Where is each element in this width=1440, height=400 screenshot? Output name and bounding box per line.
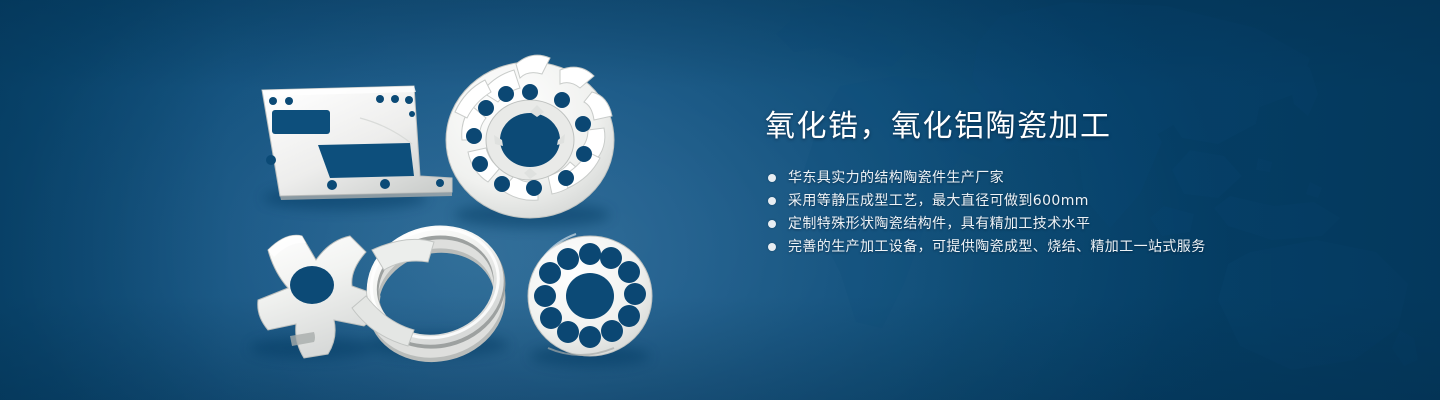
list-item: 采用等静压成型工艺，最大直径可做到600mm	[765, 190, 1385, 212]
bullet-dot-icon	[768, 174, 776, 182]
bullet-dot-icon	[768, 220, 776, 228]
ceramic-impeller-disc	[446, 55, 614, 218]
banner-copy: 氧化锆，氧化铝陶瓷加工 华东具实力的结构陶瓷件生产厂家 采用等静压成型工艺，最大…	[765, 108, 1385, 259]
feature-text: 完善的生产加工设备，可提供陶瓷成型、烧结、精加工一站式服务	[788, 236, 1206, 258]
bullet-dot-icon	[768, 243, 776, 251]
feature-text: 定制特殊形状陶瓷结构件，具有精加工技术水平	[788, 213, 1090, 235]
list-item: 定制特殊形状陶瓷结构件，具有精加工技术水平	[765, 213, 1385, 235]
bullet-dot-icon	[768, 197, 776, 205]
feature-text: 华东具实力的结构陶瓷件生产厂家	[788, 167, 1004, 189]
feature-list: 华东具实力的结构陶瓷件生产厂家 采用等静压成型工艺，最大直径可做到600mm 定…	[765, 167, 1385, 258]
ceramic-processing-banner: 氧化锆，氧化铝陶瓷加工 华东具实力的结构陶瓷件生产厂家 采用等静压成型工艺，最大…	[0, 0, 1440, 400]
list-item: 华东具实力的结构陶瓷件生产厂家	[765, 167, 1385, 189]
ceramic-products-image	[0, 0, 720, 400]
ceramic-perforated-ring-plate	[528, 234, 652, 356]
ceramic-mounting-plate	[262, 86, 452, 200]
page-title: 氧化锆，氧化铝陶瓷加工	[765, 108, 1385, 146]
feature-text: 采用等静压成型工艺，最大直径可做到600mm	[788, 190, 1089, 212]
list-item: 完善的生产加工设备，可提供陶瓷成型、烧结、精加工一站式服务	[765, 236, 1385, 258]
